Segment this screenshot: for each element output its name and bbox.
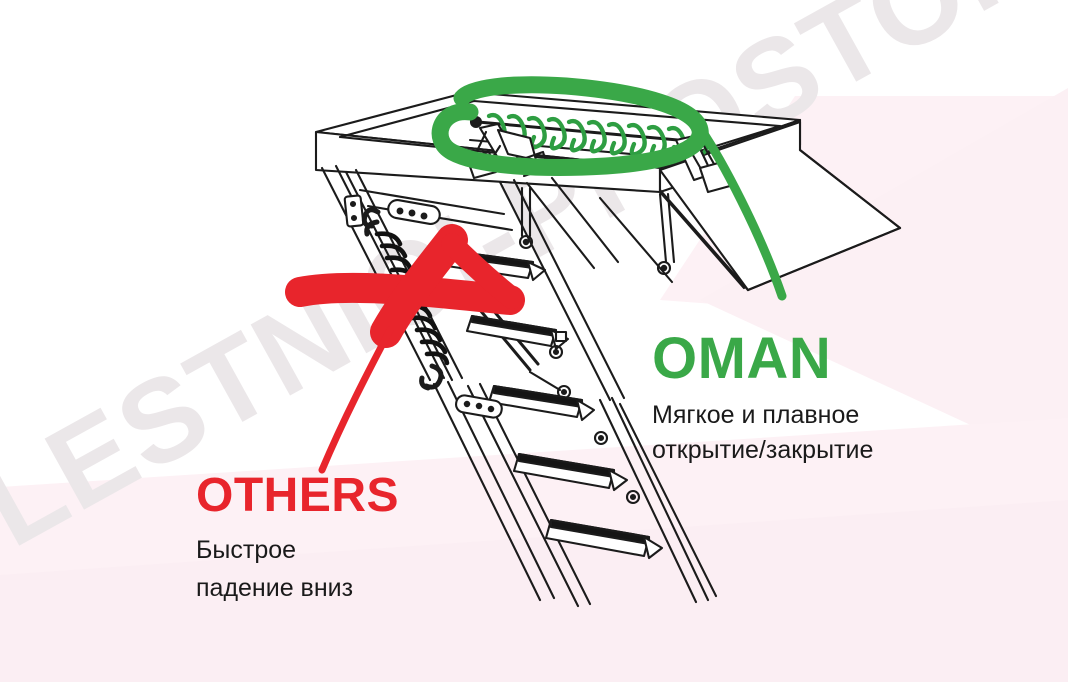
oman-headline: OMAN [652,330,873,388]
oman-subtext-line-1: Мягкое и плавное [652,398,873,433]
callout-others: OTHERS Быстрое падение вниз [196,472,399,607]
others-headline: OTHERS [196,472,399,520]
callout-oman: OMAN Мягкое и плавное открытие/закрытие [652,330,873,467]
others-subtext-line-1: Быстрое [196,532,399,570]
illustration-canvas: LESTNICI-PROSTO.RU [0,0,1068,682]
others-subtext-line-2: падение вниз [196,570,399,608]
oman-subtext-line-2: открытие/закрытие [652,433,873,468]
callout-labels: OMAN Мягкое и плавное открытие/закрытие … [0,0,1068,682]
